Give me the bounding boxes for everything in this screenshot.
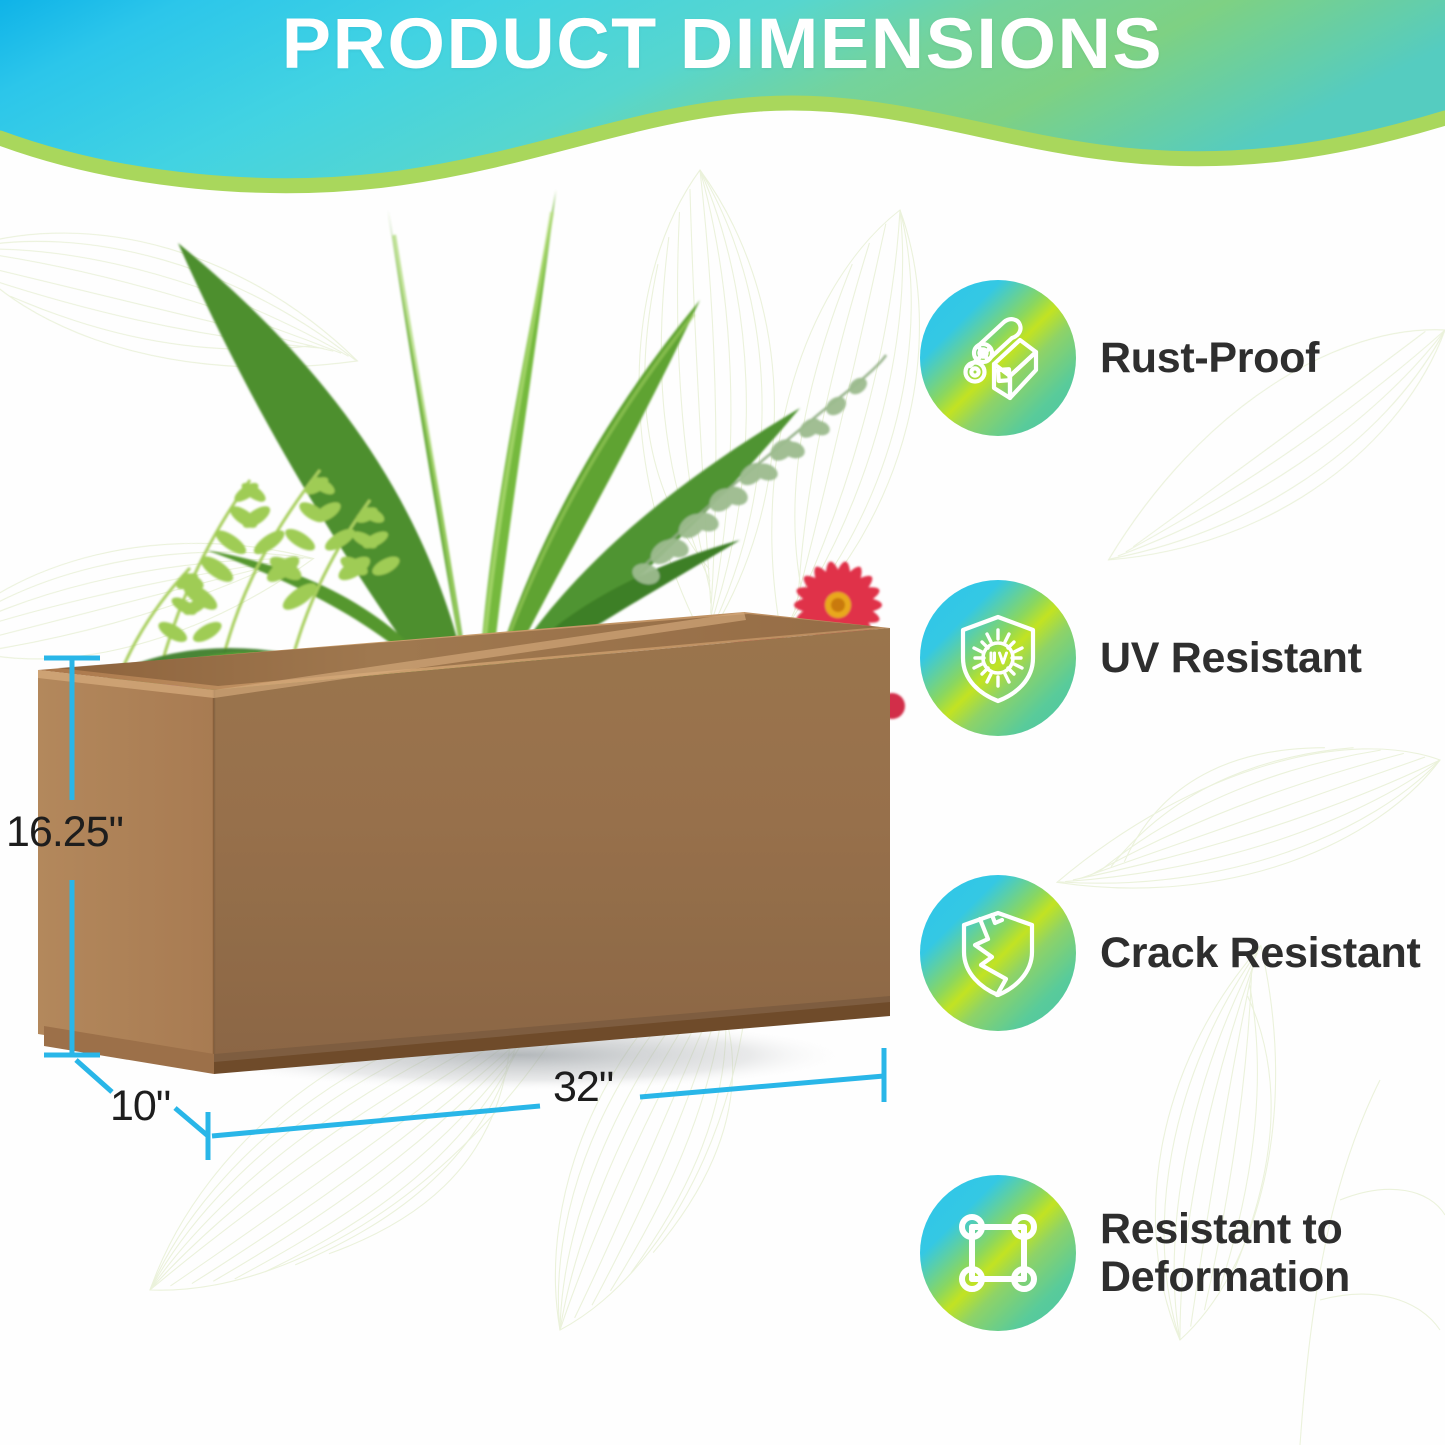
feature-label-resistant-to-deformation: Resistant to Deformation — [1100, 1205, 1350, 1301]
height-dimension-label: 16.25" — [6, 808, 123, 857]
feature-item-uv-resistant: UV Resistant — [920, 580, 1362, 736]
uv-shield-sun-icon — [920, 580, 1076, 736]
depth-dimension-label: 10" — [110, 1082, 170, 1131]
width-line-left — [212, 1106, 540, 1136]
width-dimension-label: 32" — [553, 1063, 613, 1112]
feature-label-rust-proof: Rust-Proof — [1100, 334, 1319, 382]
feature-item-resistant-to-deformation: Resistant to Deformation — [920, 1175, 1350, 1331]
feature-list: Rust-Proof — [920, 255, 1440, 1385]
square-anchor-nodes-icon — [920, 1175, 1076, 1331]
feature-item-rust-proof: Rust-Proof — [920, 280, 1319, 436]
depth-line-lower — [175, 1108, 208, 1136]
lumber-stack-icon — [920, 280, 1076, 436]
width-line-right — [640, 1076, 884, 1097]
feature-label-line2: Deformation — [1100, 1253, 1350, 1301]
infographic-canvas: PRODUCT DIMENSIONS — [0, 0, 1445, 1445]
feature-label-line1: Resistant to — [1100, 1205, 1350, 1253]
feature-label-uv-resistant: UV Resistant — [1100, 634, 1362, 682]
feature-label-crack-resistant: Crack Resistant — [1100, 929, 1421, 977]
depth-line-upper — [76, 1060, 112, 1092]
feature-item-crack-resistant: Crack Resistant — [920, 875, 1421, 1031]
cracked-shield-icon — [920, 875, 1076, 1031]
